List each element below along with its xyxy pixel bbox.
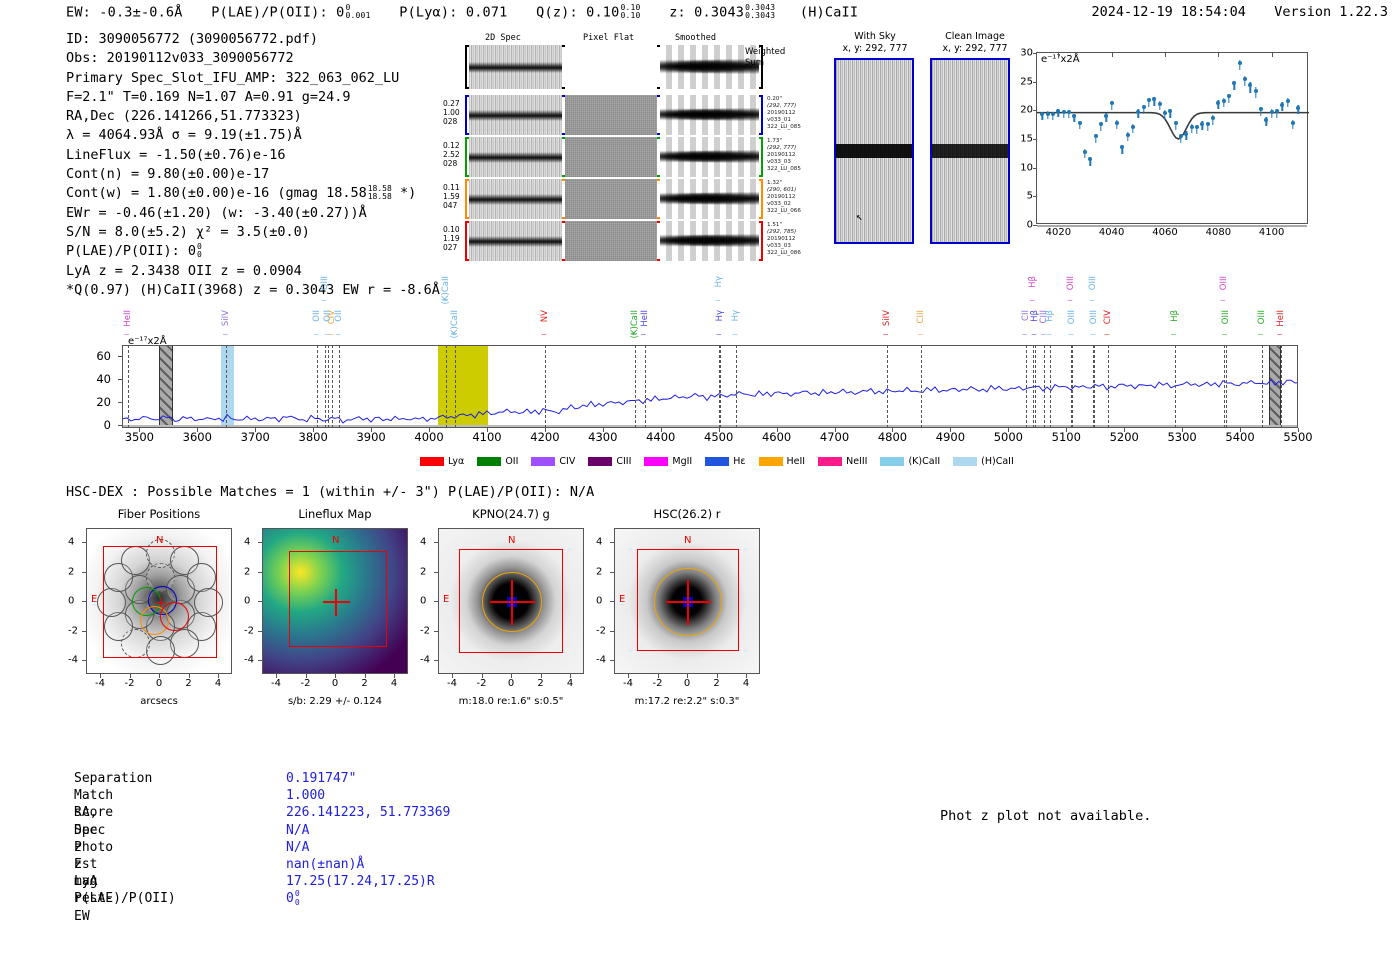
spectrum-line-bracket: ⌣ xyxy=(732,330,738,340)
spectrum-line-bracket: ⌣ xyxy=(1029,296,1035,306)
panel-y-tick-mark xyxy=(82,601,86,602)
spectrum-line-bracket: ⌣ xyxy=(442,296,448,306)
spectrum-line-guide xyxy=(720,345,721,428)
panel-y-tick-mark xyxy=(610,572,614,573)
spectrum-x-tick-mark xyxy=(950,428,951,432)
match-detail-label: P(LAE)/P(OII) xyxy=(74,890,176,907)
spectrum-x-tick-mark xyxy=(719,428,720,432)
spectrum-line-bracket: ⌣ xyxy=(715,296,721,306)
panel-x-tick-mark xyxy=(570,674,571,678)
spectrum-y-tick-mark xyxy=(118,356,122,357)
spectrum-x-tick-label: 3600 xyxy=(183,430,212,444)
spectrum-line-bracket: ⌣ xyxy=(541,330,547,340)
spectrum-line-bracket: ⌣ xyxy=(631,330,637,340)
spectrum-x-tick-label: 5000 xyxy=(994,430,1023,444)
spectrum-line-bracket: ⌣ xyxy=(1090,330,1096,340)
legend-swatch xyxy=(531,457,555,466)
spectrum-line-label: Hβ xyxy=(1045,310,1055,322)
legend-swatch xyxy=(759,457,783,466)
panel-x-tick-mark xyxy=(189,674,190,678)
panel-y-tick-label: 4 xyxy=(244,537,250,548)
panel-x-tick-label: 0 xyxy=(684,678,690,689)
spectrum-line-bracket: ⌣ xyxy=(1068,330,1074,340)
spectrum-line-label: OIII xyxy=(1067,310,1077,324)
panel-x-tick-mark xyxy=(100,674,101,678)
spectrum-x-tick-label: 4400 xyxy=(646,430,675,444)
panel-y-tick-label: -4 xyxy=(596,655,606,666)
spectrum-x-tick-mark xyxy=(661,428,662,432)
panel-y-tick-mark xyxy=(82,572,86,573)
panel-x-tick-label: 0 xyxy=(332,678,338,689)
center-crosshair xyxy=(687,580,688,625)
match-detail-value: N/A xyxy=(286,822,309,839)
panel-x-tick-label: 0 xyxy=(156,678,162,689)
match-detail-value: 17.25(17.24,17.25)R xyxy=(286,873,435,890)
panel-y-tick-label: -2 xyxy=(68,625,78,636)
spectrum-line-guide xyxy=(128,345,129,428)
panel-caption: m:18.0 re:1.6" s:0.5" xyxy=(411,696,611,707)
panel-y-tick-mark xyxy=(610,631,614,632)
spectrum-line-guide xyxy=(1175,345,1176,428)
compass-east-label: E xyxy=(91,594,97,605)
panel-title: Fiber Positions xyxy=(74,507,244,521)
panel-y-tick-mark xyxy=(434,542,438,543)
spectrum-x-tick-mark xyxy=(371,428,372,432)
spectrum-y-tick-label: 40 xyxy=(96,372,116,386)
compass-east-label: E xyxy=(443,594,449,605)
panel-y-tick-mark xyxy=(610,660,614,661)
panel-y-tick-mark xyxy=(434,572,438,573)
panel-caption: m:17.2 re:2.2" s:0.3" xyxy=(587,696,787,707)
spectrum-line-bracket: ⌣ xyxy=(883,330,889,340)
spectrum-x-tick-label: 5500 xyxy=(1283,430,1312,444)
spectrum-line-bracket: ⌣ xyxy=(1222,330,1228,340)
legend-label: (H)CaII xyxy=(981,456,1014,467)
spectrum-line-guide xyxy=(1108,345,1109,428)
legend-item: CIII xyxy=(588,456,631,467)
panel-y-tick-label: -2 xyxy=(420,625,430,636)
panel-x-tick-mark xyxy=(746,674,747,678)
panel-x-tick-label: 4 xyxy=(567,678,573,689)
panel-x-tick-label: -4 xyxy=(623,678,633,689)
spectrum-line-bracket: ⌣ xyxy=(1089,296,1095,306)
spectrum-line-guide xyxy=(736,345,737,428)
match-detail-value: 1.000 xyxy=(286,787,325,804)
spectrum-x-tick-label: 5400 xyxy=(1225,430,1254,444)
spectrum-line-label: SiIV xyxy=(221,310,231,326)
spectrum-line-guide xyxy=(1093,345,1094,428)
spectrum-line-label: OIII xyxy=(1219,276,1229,290)
spectrum-line-guide xyxy=(887,345,888,428)
spectrum-line-label: OIII xyxy=(1088,276,1098,290)
panel-y-tick-mark xyxy=(258,542,262,543)
match-detail-value: nan(±nan)Å xyxy=(286,856,364,873)
panel-x-tick-mark xyxy=(717,674,718,678)
spectrum-x-tick-mark xyxy=(835,428,836,432)
spectrum-line-label: OII xyxy=(334,310,344,322)
spectrum-line-bracket: ⌣ xyxy=(1031,330,1037,340)
spectrum-line-guide xyxy=(317,345,318,428)
legend-item: HeII xyxy=(759,456,806,467)
spectrum-line-label: SiIV xyxy=(882,310,892,326)
spectrum-x-tick-label: 4500 xyxy=(704,430,733,444)
legend-label: CIV xyxy=(559,456,575,467)
compass-north-label: N xyxy=(684,535,691,546)
panel-x-tick-label: -2 xyxy=(477,678,487,689)
panel-x-tick-label: 4 xyxy=(391,678,397,689)
legend-item: Lyα xyxy=(420,456,464,467)
spectrum-line-label: HeII xyxy=(640,310,650,327)
panel-y-tick-label: 2 xyxy=(420,566,426,577)
panel-y-tick-mark xyxy=(434,601,438,602)
cutout-panel-0: NE xyxy=(86,528,232,674)
panel-x-tick-label: -4 xyxy=(95,678,105,689)
legend-swatch xyxy=(818,457,842,466)
spectrum-x-tick-mark xyxy=(1008,428,1009,432)
panel-x-tick-mark xyxy=(335,674,336,678)
spectrum-line-guide xyxy=(339,345,340,428)
match-detail-label: Separation xyxy=(74,770,152,787)
spectrum-x-tick-label: 5300 xyxy=(1167,430,1196,444)
spectrum-x-tick-mark xyxy=(777,428,778,432)
spectrum-line-label: HeII xyxy=(1276,310,1286,327)
spectrum-x-tick-label: 4800 xyxy=(878,430,907,444)
spectrum-line-label: OIII xyxy=(1221,310,1231,324)
legend-swatch xyxy=(588,457,612,466)
legend-swatch xyxy=(880,457,904,466)
center-crosshair xyxy=(511,580,512,625)
spectrum-line-guide xyxy=(635,345,636,428)
spectrum-line-bracket: ⌣ xyxy=(1067,296,1073,306)
spectrum-line-guide xyxy=(446,345,447,428)
legend-item: MgII xyxy=(644,456,692,467)
panel-y-tick-label: -4 xyxy=(68,655,78,666)
spectrum-line-guide xyxy=(545,345,546,428)
spectrum-trace xyxy=(123,346,1297,427)
panel-x-tick-mark xyxy=(452,674,453,678)
spectrum-x-tick-label: 4200 xyxy=(530,430,559,444)
panel-y-tick-label: -4 xyxy=(420,655,430,666)
panel-x-tick-mark xyxy=(628,674,629,678)
panel-x-tick-mark xyxy=(511,674,512,678)
panel-x-tick-label: 4 xyxy=(743,678,749,689)
panel-y-tick-label: 4 xyxy=(68,537,74,548)
spectrum-y-tick-mark xyxy=(118,402,122,403)
spectrum-line-label: CIII xyxy=(916,310,926,323)
panel-x-tick-label: 2 xyxy=(185,678,191,689)
panel-y-tick-mark xyxy=(82,631,86,632)
spectrum-x-tick-mark xyxy=(1066,428,1067,432)
spectrum-x-tick-label: 4300 xyxy=(588,430,617,444)
spectrum-line-label: Hγ xyxy=(715,310,725,321)
spectrum-line-label: Hβ xyxy=(1028,276,1038,288)
panel-x-tick-mark xyxy=(306,674,307,678)
spectrum-y-tick-mark xyxy=(118,425,122,426)
legend-swatch xyxy=(477,457,501,466)
cutout-panel-1: N xyxy=(262,528,408,674)
spectrum-line-label: NV xyxy=(540,310,550,322)
spectrum-line-bracket: ⌣ xyxy=(1220,296,1226,306)
panel-y-tick-label: 4 xyxy=(596,537,602,548)
spectrum-line-guide xyxy=(226,345,227,428)
panel-x-tick-label: 2 xyxy=(361,678,367,689)
spectrum-line-guide xyxy=(1072,345,1073,428)
panel-x-tick-label: 0 xyxy=(508,678,514,689)
spectrum-line-guide xyxy=(1094,345,1095,428)
center-marker xyxy=(160,598,161,607)
panel-y-tick-mark xyxy=(258,631,262,632)
legend-swatch xyxy=(705,457,729,466)
spectrum-line-guide xyxy=(1035,345,1036,428)
panel-x-tick-label: -4 xyxy=(271,678,281,689)
spectrum-line-bracket: ⌣ xyxy=(1277,330,1283,340)
panel-y-tick-label: -2 xyxy=(596,625,606,636)
spectrum-x-tick-label: 4000 xyxy=(414,430,443,444)
spectrum-line-guide xyxy=(1033,345,1034,428)
compass-east-label: E xyxy=(619,594,625,605)
panel-y-tick-mark xyxy=(610,542,614,543)
legend-swatch xyxy=(644,457,668,466)
spectrum-y-tick-label: 20 xyxy=(96,395,116,409)
panel-x-tick-mark xyxy=(482,674,483,678)
spectrum-x-tick-label: 4900 xyxy=(936,430,965,444)
spectrum-line-label: Hγ xyxy=(714,276,724,287)
panel-x-tick-label: -2 xyxy=(125,678,135,689)
spectrum-line-label: HeII xyxy=(123,310,133,327)
spectrum-line-bracket: ⌣ xyxy=(451,330,457,340)
spectrum-x-tick-mark xyxy=(1182,428,1183,432)
spectrum-x-tick-label: 5200 xyxy=(1110,430,1139,444)
spectrum-line-bracket: ⌣ xyxy=(1171,330,1177,340)
spectrum-y-tick-mark xyxy=(118,379,122,380)
spectrum-x-tick-label: 4100 xyxy=(472,430,501,444)
panel-y-tick-label: 2 xyxy=(68,566,74,577)
legend-label: OII xyxy=(505,456,518,467)
spectrum-line-bracket: ⌣ xyxy=(222,330,228,340)
match-detail-value: 000 xyxy=(286,890,300,907)
spectrum-line-label: CIV xyxy=(1103,310,1113,324)
legend-item: (H)CaII xyxy=(953,456,1014,467)
spectrum-line-label: Hβ xyxy=(1170,310,1180,322)
panel-y-tick-mark xyxy=(258,660,262,661)
spectrum-line-guide xyxy=(1224,345,1225,428)
panel-x-tick-mark xyxy=(276,674,277,678)
spectrum-line-guide xyxy=(328,345,329,428)
cutout-field-box xyxy=(289,551,387,647)
panel-x-tick-mark xyxy=(159,674,160,678)
panel-y-tick-label: 4 xyxy=(420,537,426,548)
legend-label: Hε xyxy=(733,456,745,467)
spectrum-line-guide xyxy=(1281,345,1282,428)
spectrum-x-tick-mark xyxy=(313,428,314,432)
panel-y-tick-mark xyxy=(434,660,438,661)
spectrum-x-tick-mark xyxy=(139,428,140,432)
legend-label: MgII xyxy=(672,456,692,467)
spectrum-line-guide xyxy=(1044,345,1045,428)
legend-label: NeIII xyxy=(846,456,867,467)
panel-x-tick-mark xyxy=(365,674,366,678)
legend-swatch xyxy=(420,457,444,466)
center-crosshair xyxy=(335,589,336,616)
spectrum-line-bracket: ⌣ xyxy=(1022,330,1028,340)
panel-y-tick-label: 2 xyxy=(596,566,602,577)
panel-y-tick-mark xyxy=(610,601,614,602)
legend-label: (K)CaII xyxy=(908,456,940,467)
spectrum-line-bracket: ⌣ xyxy=(1046,330,1052,340)
spectrum-y-tick-label: 60 xyxy=(96,349,116,363)
panel-x-tick-mark xyxy=(687,674,688,678)
legend-item: OII xyxy=(477,456,518,467)
panel-x-tick-mark xyxy=(394,674,395,678)
spectrum-line-label: Hγ xyxy=(731,310,741,321)
match-detail-label: mag xyxy=(74,873,97,890)
panel-x-tick-mark xyxy=(658,674,659,678)
spectrum-x-tick-mark xyxy=(1240,428,1241,432)
spectrum-line-bracket: ⌣ xyxy=(1104,330,1110,340)
spectrum-x-tick-label: 5100 xyxy=(1052,430,1081,444)
compass-north-label: N xyxy=(156,535,163,546)
spectrum-line-guide xyxy=(455,345,456,428)
spectrum-line-bracket: ⌣ xyxy=(328,330,334,340)
main-spectrum-units-label: e⁻¹⁷x2Å xyxy=(128,336,167,347)
panel-title: Lineflux Map xyxy=(250,507,420,521)
panel-x-tick-mark xyxy=(218,674,219,678)
panel-y-tick-mark xyxy=(258,601,262,602)
panel-y-tick-label: 0 xyxy=(596,596,602,607)
panel-y-tick-label: 0 xyxy=(244,596,250,607)
spectrum-line-label: OIII xyxy=(1257,310,1267,324)
spectrum-x-tick-mark xyxy=(487,428,488,432)
spectrum-x-tick-label: 4700 xyxy=(820,430,849,444)
spectrum-line-bracket: ⌣ xyxy=(641,330,647,340)
panel-y-tick-mark xyxy=(82,660,86,661)
spectrum-x-tick-mark xyxy=(892,428,893,432)
panel-y-tick-label: 2 xyxy=(244,566,250,577)
spectrum-x-tick-mark xyxy=(1298,428,1299,432)
panel-title: KPNO(24.7) g xyxy=(426,507,596,521)
spectrum-line-bracket: ⌣ xyxy=(313,330,319,340)
panel-y-tick-mark xyxy=(82,542,86,543)
photoz-unavailable-message: Phot z plot not available. xyxy=(940,808,1151,824)
panel-y-tick-label: -4 xyxy=(244,655,254,666)
cutout-panel-3: NE xyxy=(614,528,760,674)
panel-caption: arcsecs xyxy=(59,696,259,707)
spectrum-line-label: OIII xyxy=(1066,276,1076,290)
compass-north-label: N xyxy=(508,535,515,546)
spectrum-x-tick-mark xyxy=(255,428,256,432)
legend-label: HeII xyxy=(787,456,806,467)
spectrum-line-bracket: ⌣ xyxy=(716,330,722,340)
panel-x-tick-label: 2 xyxy=(713,678,719,689)
spectrum-x-tick-label: 3500 xyxy=(125,430,154,444)
match-detail-value: N/A xyxy=(286,839,309,856)
spectrum-line-guide xyxy=(1071,345,1072,428)
compass-north-label: N xyxy=(332,535,339,546)
panel-x-tick-label: -2 xyxy=(301,678,311,689)
spectrum-line-bracket: ⌣ xyxy=(335,330,341,340)
spectrum-line-guide xyxy=(332,345,333,428)
spectrum-line-guide xyxy=(1050,345,1051,428)
spectrum-line-bracket: ⌣ xyxy=(321,296,327,306)
legend-swatch xyxy=(953,457,977,466)
panel-x-tick-label: 4 xyxy=(215,678,221,689)
panel-y-tick-mark xyxy=(434,631,438,632)
legend-label: CIII xyxy=(616,456,631,467)
legend-item: Hε xyxy=(705,456,745,467)
spectrum-line-label: OII xyxy=(312,310,322,322)
spectrum-line-guide xyxy=(1226,345,1227,428)
spectrum-x-tick-mark xyxy=(429,428,430,432)
spectrum-line-guide xyxy=(645,345,646,428)
panel-x-tick-label: -2 xyxy=(653,678,663,689)
spectrum-line-guide xyxy=(921,345,922,428)
match-detail-value: 0.191747" xyxy=(286,770,356,787)
cutout-panel-2: NE xyxy=(438,528,584,674)
spectrum-x-tick-label: 3800 xyxy=(299,430,328,444)
panel-y-tick-label: 0 xyxy=(420,596,426,607)
panel-y-tick-label: 0 xyxy=(68,596,74,607)
spectrum-x-tick-mark xyxy=(603,428,604,432)
spectrum-line-bracket: ⌣ xyxy=(1258,330,1264,340)
spectrum-line-guide xyxy=(1262,345,1263,428)
full-spectrum-panel: 3500360037003800390040004100420043004400… xyxy=(0,0,1400,480)
panel-title: HSC(26.2) r xyxy=(602,507,772,521)
spectrum-line-label: OIII xyxy=(1089,310,1099,324)
panel-x-tick-label: 2 xyxy=(537,678,543,689)
hsc-dex-header: HSC-DEX : Possible Matches = 1 (within +… xyxy=(66,484,594,500)
panel-x-tick-label: -4 xyxy=(447,678,457,689)
spectrum-x-tick-label: 3900 xyxy=(356,430,385,444)
legend-item: NeIII xyxy=(818,456,867,467)
legend-label: Lyα xyxy=(448,456,464,467)
legend-item: CIV xyxy=(531,456,575,467)
panel-caption: s/b: 2.29 +/- 0.124 xyxy=(235,696,435,707)
spectrum-line-guide xyxy=(325,345,326,428)
match-detail-value: 226.141223, 51.773369 xyxy=(286,804,450,821)
full-spectrum-axes xyxy=(122,345,1298,428)
panel-x-tick-mark xyxy=(130,674,131,678)
spectrum-x-tick-label: 3700 xyxy=(241,430,270,444)
panel-y-tick-label: -2 xyxy=(244,625,254,636)
legend-item: (K)CaII xyxy=(880,456,940,467)
spectrum-line-guide xyxy=(1026,345,1027,428)
spectrum-x-tick-mark xyxy=(197,428,198,432)
spectrum-x-tick-label: 4600 xyxy=(762,430,791,444)
spectrum-y-tick-label: 0 xyxy=(104,418,116,432)
emission-line-legend: LyαOIICIVCIIIMgIIHεHeIINeIII(K)CaII(H)Ca… xyxy=(420,456,1014,467)
spectrum-line-label: OIII xyxy=(320,276,330,290)
spectrum-x-tick-mark xyxy=(545,428,546,432)
spectrum-line-bracket: ⌣ xyxy=(917,330,923,340)
panel-x-tick-mark xyxy=(541,674,542,678)
spectrum-x-tick-mark xyxy=(1124,428,1125,432)
panel-y-tick-mark xyxy=(258,572,262,573)
